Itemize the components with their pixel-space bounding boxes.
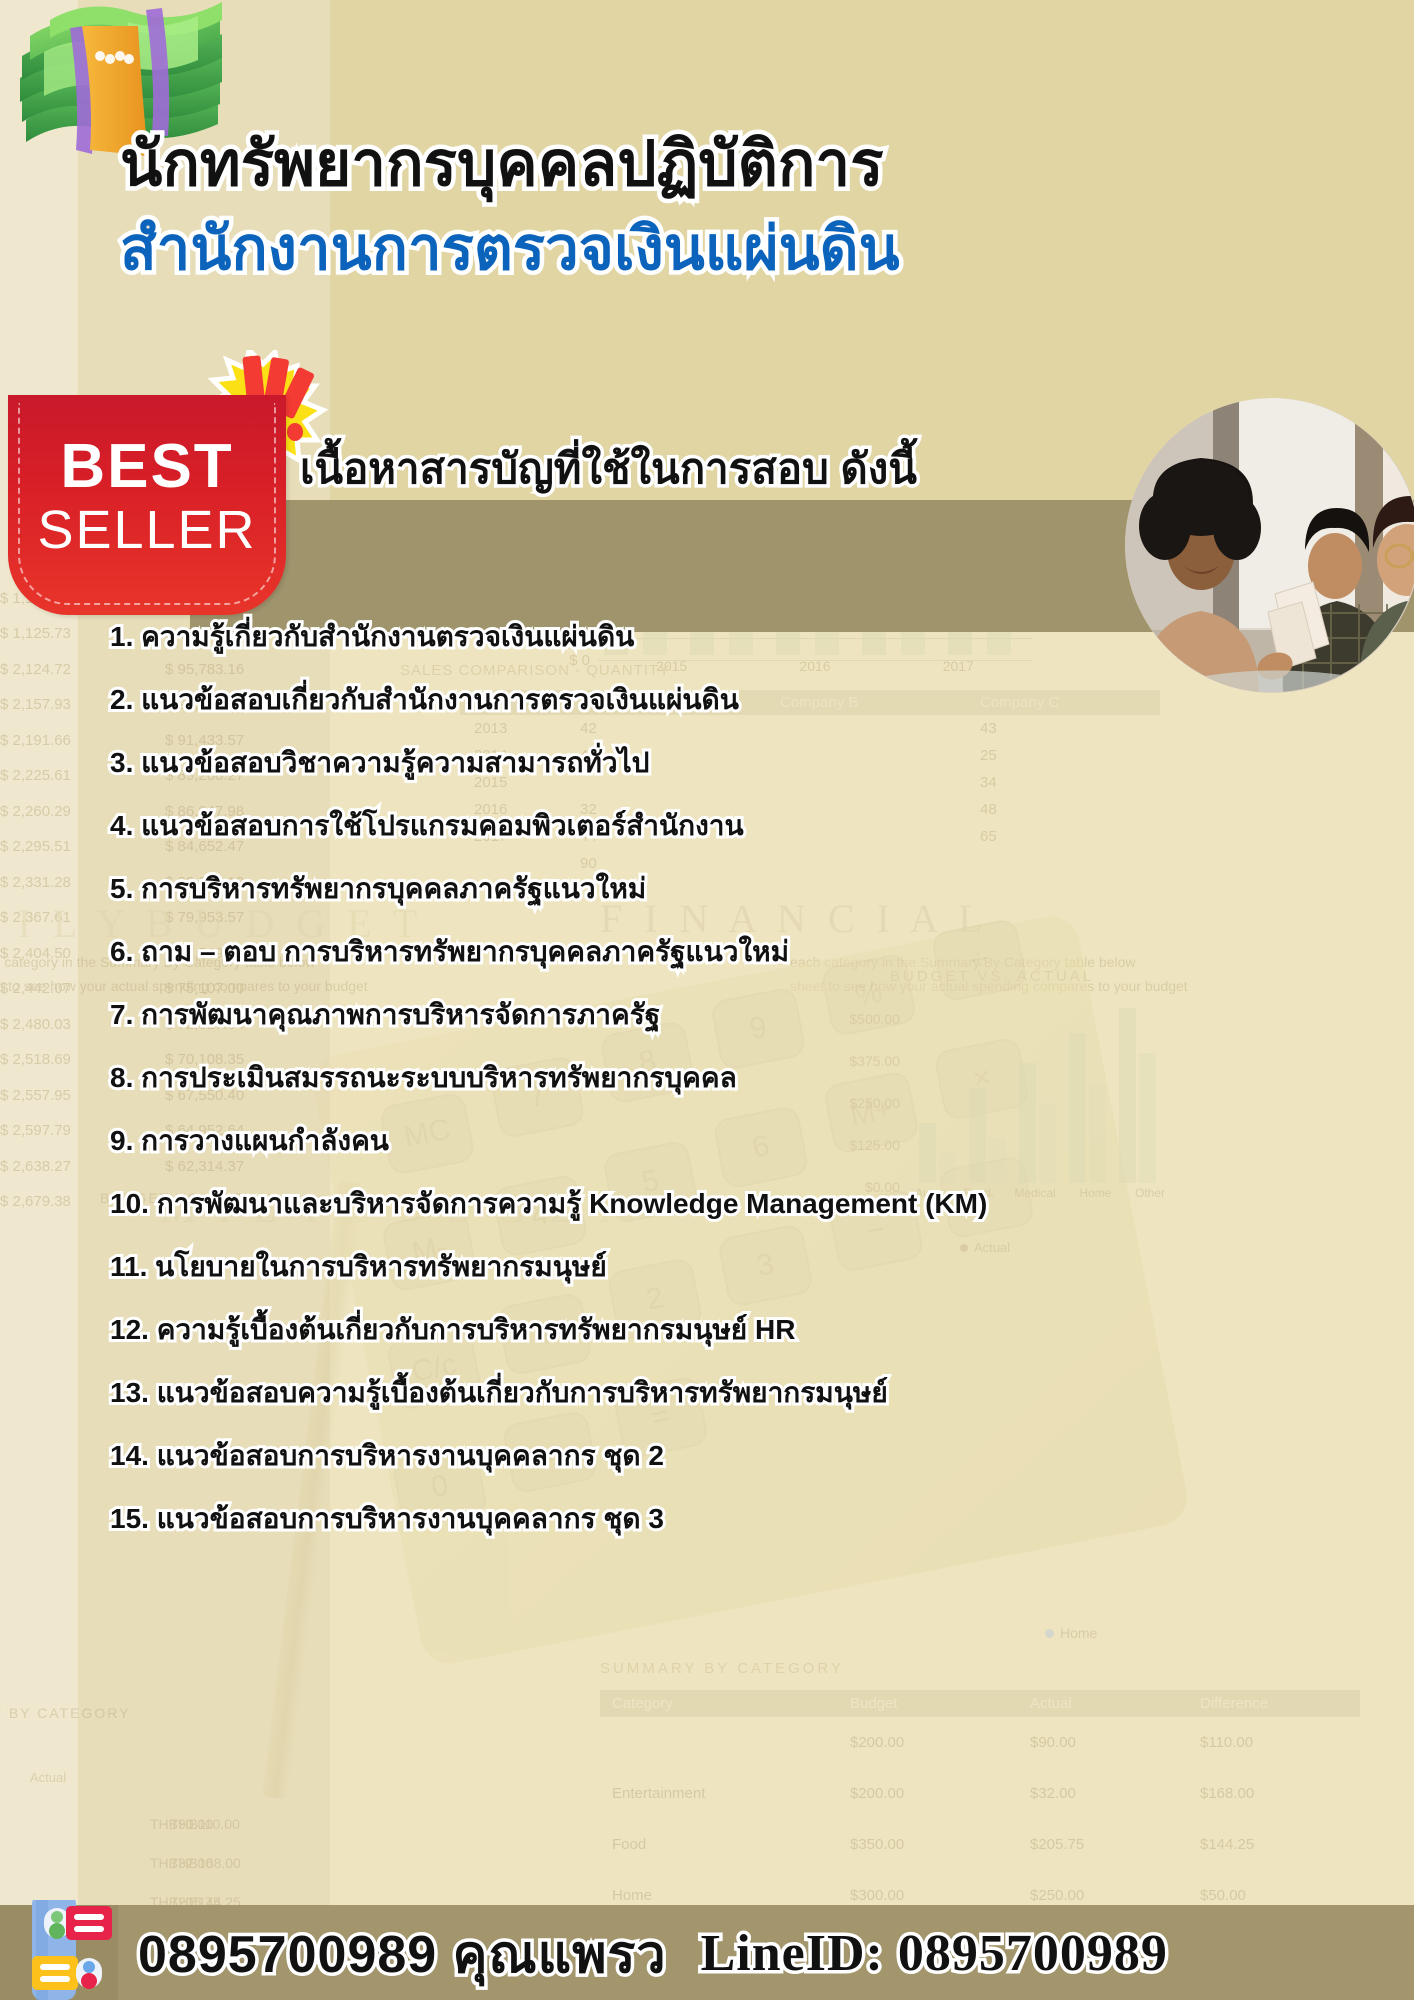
list-item: 10. การพัฒนาและบริหารจัดการความรู้ Knowl… (110, 1185, 1350, 1248)
list-item: 13. แนวข้อสอบความรู้เบื้องต้นเกี่ยวกับกา… (110, 1374, 1350, 1437)
poster-root: PrincipalEnding Balance $ 1,150.11$ 100,… (0, 0, 1414, 2000)
list-item: 6. ถาม – ตอบ การบริหารทรัพยากรบุคคลภาครั… (110, 933, 1350, 996)
list-item: 4. แนวข้อสอบการใช้โปรแกรมคอมพิวเตอร์สำนั… (110, 807, 1350, 870)
list-item: 12. ความรู้เบื้องต้นเกี่ยวกับการบริหารทร… (110, 1311, 1350, 1374)
list-item: 11. นโยบายในการบริหารทรัพยากรมนุษย์ (110, 1248, 1350, 1311)
list-item: 7. การพัฒนาคุณภาพการบริหารจัดการภาครัฐ (110, 996, 1350, 1059)
list-item: 5. การบริหารทรัพยากรบุคคลภาครัฐแนวใหม่ (110, 870, 1350, 933)
page-title-line2: สำนักงานการตรวจเงินแผ่นดิน (120, 215, 1120, 282)
list-item: 8. การประเมินสมรรถนะระบบบริหารทรัพยากรบุ… (110, 1059, 1350, 1122)
badge-seller-label: SELLER (8, 499, 286, 561)
contact-card-icon (14, 1900, 124, 2000)
footer-phone: 0895700989 คุณแพรว (138, 1912, 667, 1995)
list-item: 9. การวางแผนกำลังคน (110, 1122, 1350, 1185)
list-item: 2. แนวข้อสอบเกี่ยวกับสำนักงานการตรวจเงิน… (110, 681, 1350, 744)
badge-best-label: BEST (8, 431, 286, 502)
footer-line-id: LineID: 0895700989 (701, 1924, 1168, 1983)
list-item: 14. แนวข้อสอบการบริหารงานบุคคลากร ชุด 2 (110, 1437, 1350, 1500)
bg-stripe-left (0, 0, 78, 1920)
best-seller-badge: BEST SELLER (8, 395, 286, 615)
list-item: 3. แนวข้อสอบวิชาความรู้ความสามารถทั่วไป (110, 744, 1350, 807)
list-item: 15. แนวข้อสอบการบริหารงานบุคคลากร ชุด 3 (110, 1500, 1350, 1563)
page-title-line1: นักทรัพยากรบุคคลปฏิบัติการ (120, 130, 1120, 199)
title-block: นักทรัพยากรบุคคลปฏิบัติการ สำนักงานการตร… (120, 130, 1120, 283)
footer-contact: 0895700989 คุณแพรว LineID: 0895700989 (138, 1908, 1168, 1998)
list-item: 1. ความรู้เกี่ยวกับสำนักงานตรวจเงินแผ่นด… (110, 618, 1350, 681)
contents-list: 1. ความรู้เกี่ยวกับสำนักงานตรวจเงินแผ่นด… (110, 618, 1350, 1563)
